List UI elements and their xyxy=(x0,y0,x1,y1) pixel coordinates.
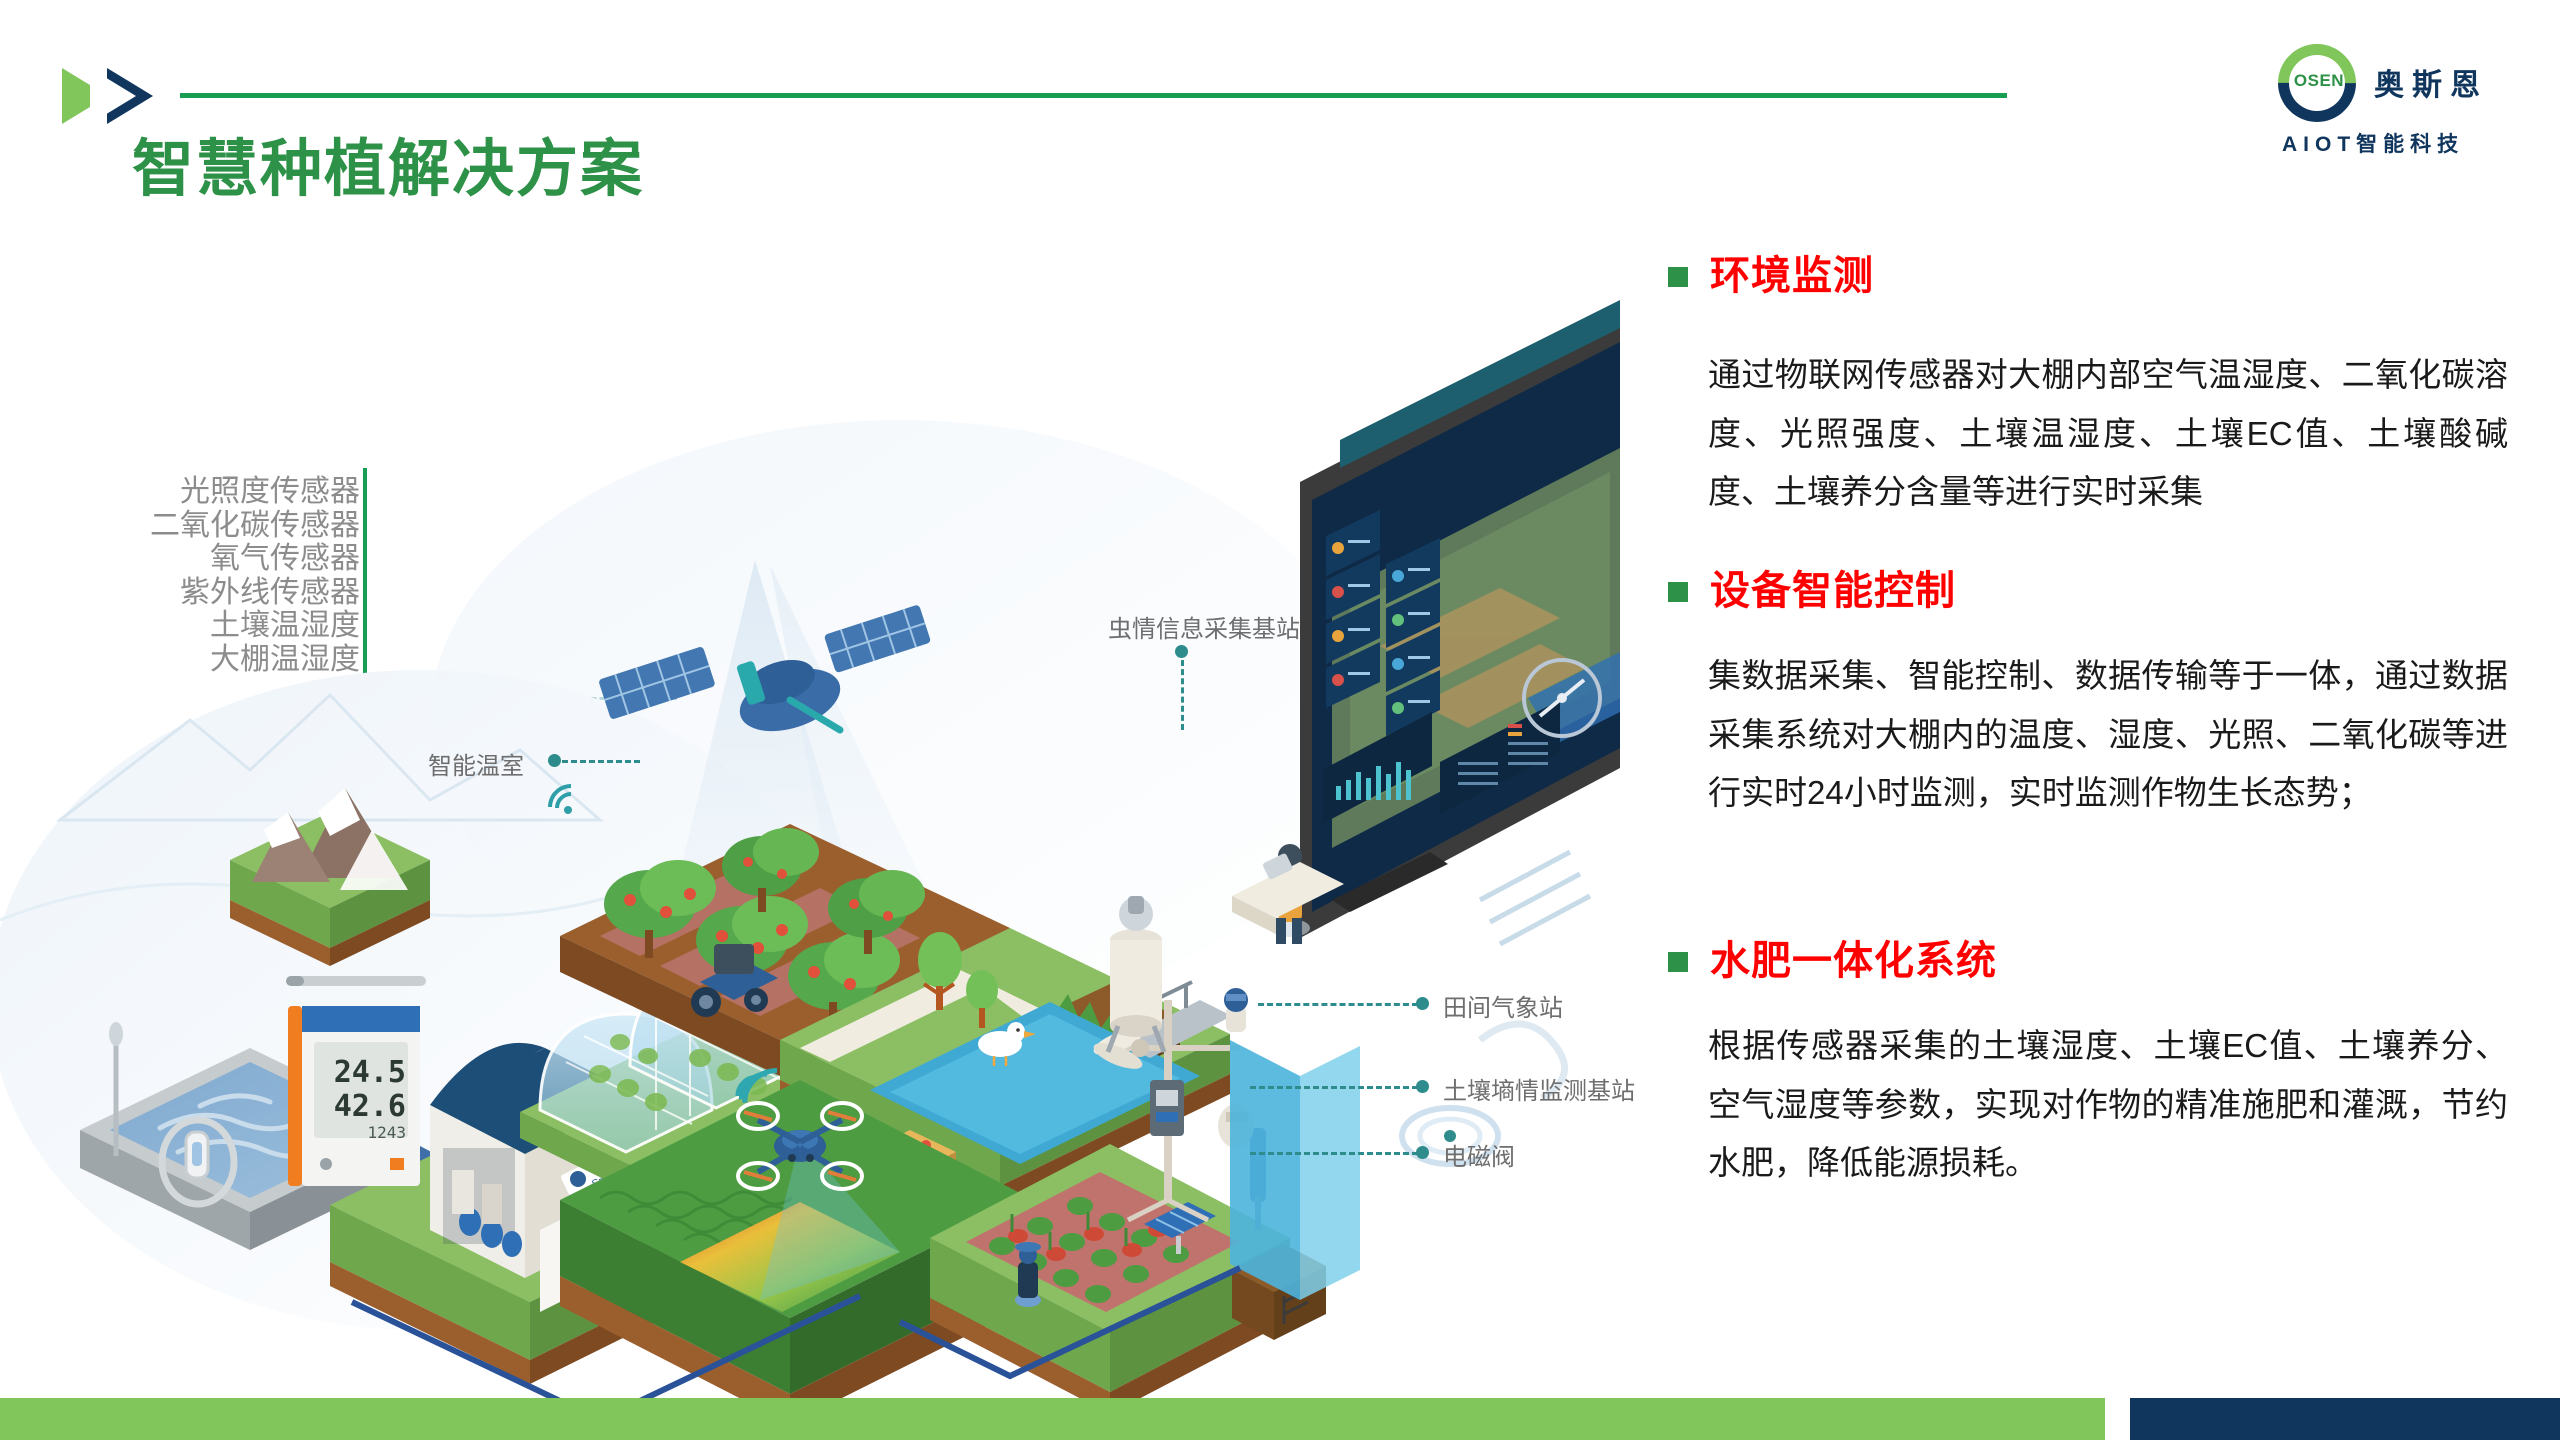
sensor-display-panel: 24.5 42.6 1243 xyxy=(286,976,426,1186)
svg-text:42.6: 42.6 xyxy=(334,1089,406,1124)
slide-header: 智慧种植解决方案 xyxy=(0,0,2560,230)
callout-pest-station-line xyxy=(1181,660,1184,730)
callout-soil-moisture-dot xyxy=(1416,1080,1429,1093)
section-bullet xyxy=(1668,952,1688,972)
callout-soil-moisture-label: 土壤墒情监测基站 xyxy=(1443,1071,1635,1106)
callout-weather-station-dot xyxy=(1416,997,1429,1010)
footer-green-bar xyxy=(0,1398,2105,1440)
sensor-head-icon xyxy=(1224,988,1248,1032)
section-title: 水肥一体化系统 xyxy=(1710,928,1997,986)
logo-tagline: AIOT智能科技 xyxy=(2282,128,2464,158)
irrigation-channel xyxy=(1230,1040,1360,1300)
section-title: 环境监测 xyxy=(1710,243,1874,301)
section-title: 设备智能控制 xyxy=(1710,558,1956,616)
callout-weather-station-line xyxy=(1258,1003,1418,1006)
callout-greenhouse-line xyxy=(562,760,640,763)
farm-scene-svg: Smart Farm xyxy=(0,300,1620,1400)
brand-logo: OSEN 奥斯恩 AIOT智能科技 xyxy=(2278,42,2528,152)
callout-pest-station-label: 虫情信息采集基站 xyxy=(1108,609,1300,644)
decor-lines xyxy=(1480,852,1590,944)
logo-company-name: 奥斯恩 xyxy=(2374,60,2488,104)
isometric-farm-illustration: Smart Farm xyxy=(0,300,1620,1400)
section-fertigation: 水肥一体化系统 根据传感器采集的土壤湿度、土壤EC值、土壤养分、空气湿度等参数，… xyxy=(1660,940,2540,1240)
callout-weather-station-label: 田间气象站 xyxy=(1443,988,1563,1023)
dashboard-monitor xyxy=(1300,318,1620,938)
section-bullet xyxy=(1668,267,1688,287)
solution-sections-panel: 环境监测 通过物联网传感器对大棚内部空气温湿度、二氧化碳溶度、光照强度、土壤温湿… xyxy=(1660,255,2540,1240)
callout-solenoid-valve-dot xyxy=(1416,1146,1429,1159)
callout-greenhouse-dot xyxy=(548,754,561,767)
header-arrow-icon xyxy=(62,68,182,124)
section-body: 根据传感器采集的土壤湿度、土壤EC值、土壤养分、空气湿度等参数，实现对作物的精准… xyxy=(1708,1017,2508,1193)
callout-soil-moisture-line xyxy=(1250,1086,1418,1089)
footer-navy-bar xyxy=(2130,1398,2560,1440)
page-title: 智慧种植解决方案 xyxy=(132,118,644,208)
control-box xyxy=(1150,1080,1184,1136)
section-body: 通过物联网传感器对大棚内部空气温湿度、二氧化碳溶度、光照强度、土壤温湿度、土壤E… xyxy=(1708,346,2508,522)
arrow-navy-notch xyxy=(90,68,136,124)
logo-mark-text: OSEN xyxy=(2288,71,2350,91)
svg-text:1243: 1243 xyxy=(367,1123,406,1142)
section-environment-monitoring: 环境监测 通过物联网传感器对大棚内部空气温湿度、二氧化碳溶度、光照强度、土壤温湿… xyxy=(1660,255,2540,570)
header-rule xyxy=(180,93,2007,98)
callout-solenoid-valve-line xyxy=(1250,1152,1418,1155)
callout-greenhouse-label: 智能温室 xyxy=(428,746,524,781)
svg-text:24.5: 24.5 xyxy=(334,1055,406,1090)
callout-solenoid-valve-label: 电磁阀 xyxy=(1443,1137,1515,1172)
callout-pest-station-dot xyxy=(1175,645,1188,658)
section-device-control: 设备智能控制 集数据采集、智能控制、数据传输等于一体，通过数据采集系统对大棚内的… xyxy=(1660,570,2540,940)
wifi-icon xyxy=(548,782,594,816)
section-bullet xyxy=(1668,582,1688,602)
section-body: 集数据采集、智能控制、数据传输等于一体，通过数据采集系统对大棚内的温度、湿度、光… xyxy=(1708,647,2508,823)
